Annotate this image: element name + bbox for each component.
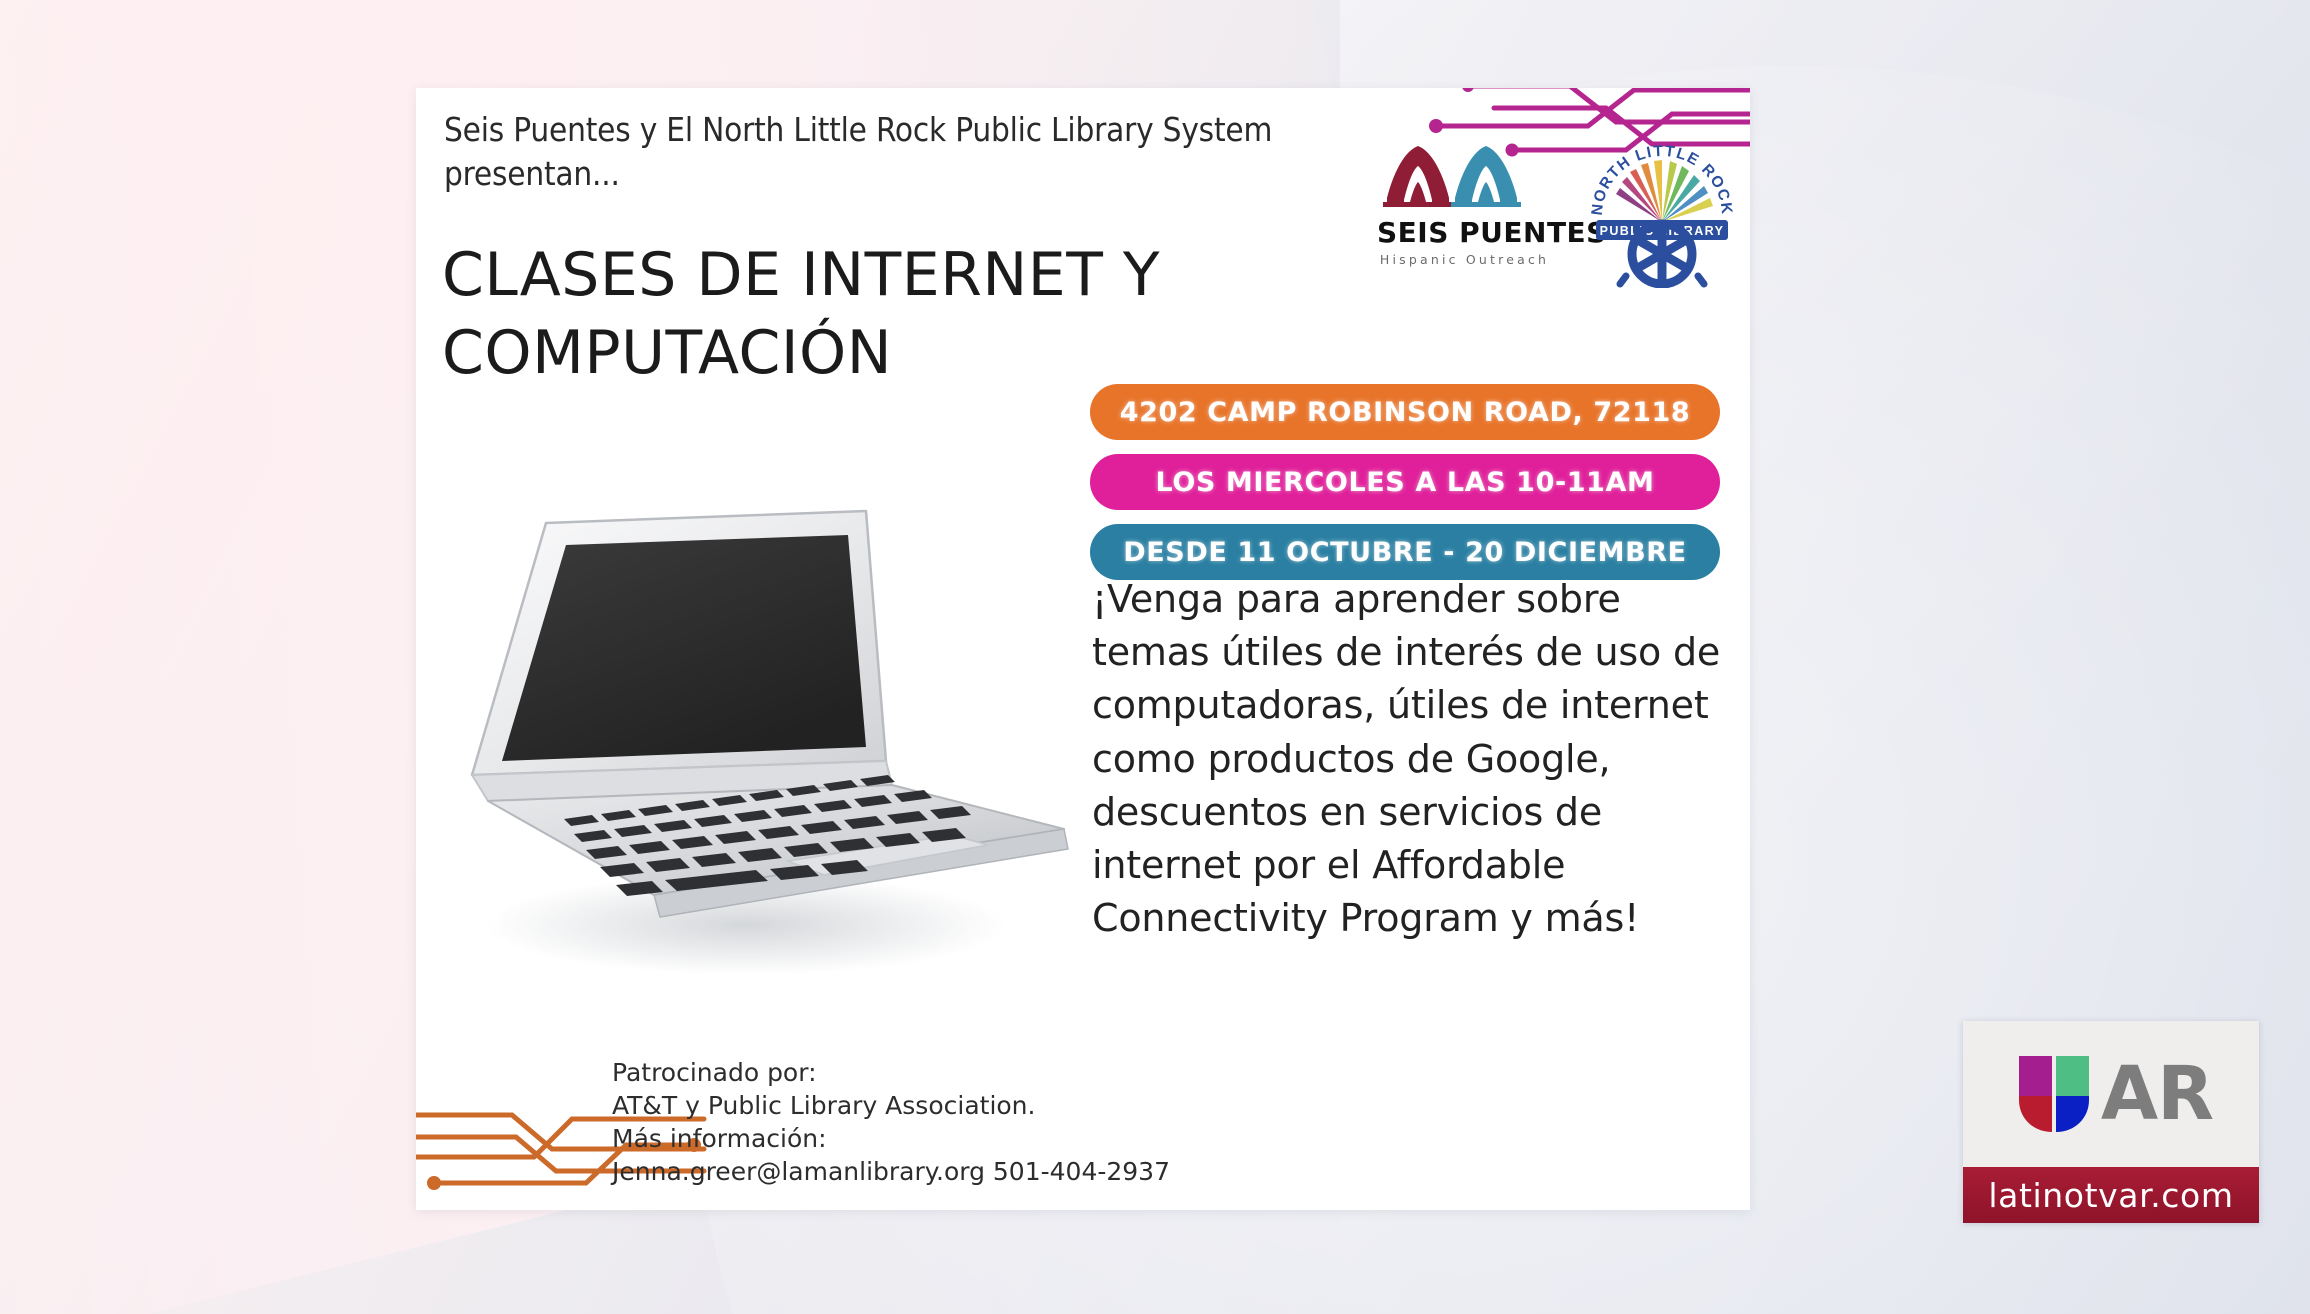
dates-bar: DESDE 11 OCTUBRE - 20 DICIEMBRE [1090,524,1720,580]
more-info-label: Más información: [612,1122,1170,1155]
broadcast-stage: Seis Puentes y El North Little Rock Publ… [0,0,2310,1314]
logo-row: SEIS PUENTES Hispanic Outreach [1377,136,1738,288]
sponsor-label: Patrocinado por: [612,1056,1170,1089]
schedule-bar: LOS MIERCOLES A LAS 10-11AM [1090,454,1720,510]
north-little-rock-library-logo: NORTH LITTLE ROCK PUBLIC LIBRARY [1586,136,1738,288]
watermark-url: latinotvar.com [1988,1176,2233,1215]
contact-info: Jenna.greer@lamanlibrary.org 501-404-293… [612,1155,1170,1188]
info-bar-group: 4202 CAMP ROBINSON ROAD, 72118 LOS MIERC… [1090,384,1720,580]
page-title: CLASES DE INTERNET Y COMPUTACIÓN [442,236,1242,392]
watermark-url-bar: latinotvar.com [1963,1167,2259,1223]
laptop-illustration [416,493,1116,1013]
sponsor-names: AT&T y Public Library Association. [612,1089,1170,1122]
body-copy: ¡Venga para aprender sobre temas útiles … [1092,573,1732,945]
seis-puentes-tagline: Hispanic Outreach [1377,252,1552,267]
address-bar: 4202 CAMP ROBINSON ROAD, 72118 [1090,384,1720,440]
laptop-icon [416,493,1116,1013]
watermark-initials: AR [2101,1057,2213,1131]
bridge-icon [1377,136,1552,214]
presenters-line: Seis Puentes y El North Little Rock Publ… [444,108,1444,196]
poster-card: Seis Puentes y El North Little Rock Publ… [416,88,1750,1210]
credits-block: Patrocinado por: AT&T y Public Library A… [612,1056,1170,1188]
seis-puentes-logo: SEIS PUENTES Hispanic Outreach [1377,136,1552,267]
watermark-brand-row: AR [1963,1021,2259,1167]
channel-watermark: AR latinotvar.com [1963,1021,2259,1223]
seis-puentes-name: SEIS PUENTES [1377,216,1552,249]
univision-u-icon [2015,1052,2093,1136]
